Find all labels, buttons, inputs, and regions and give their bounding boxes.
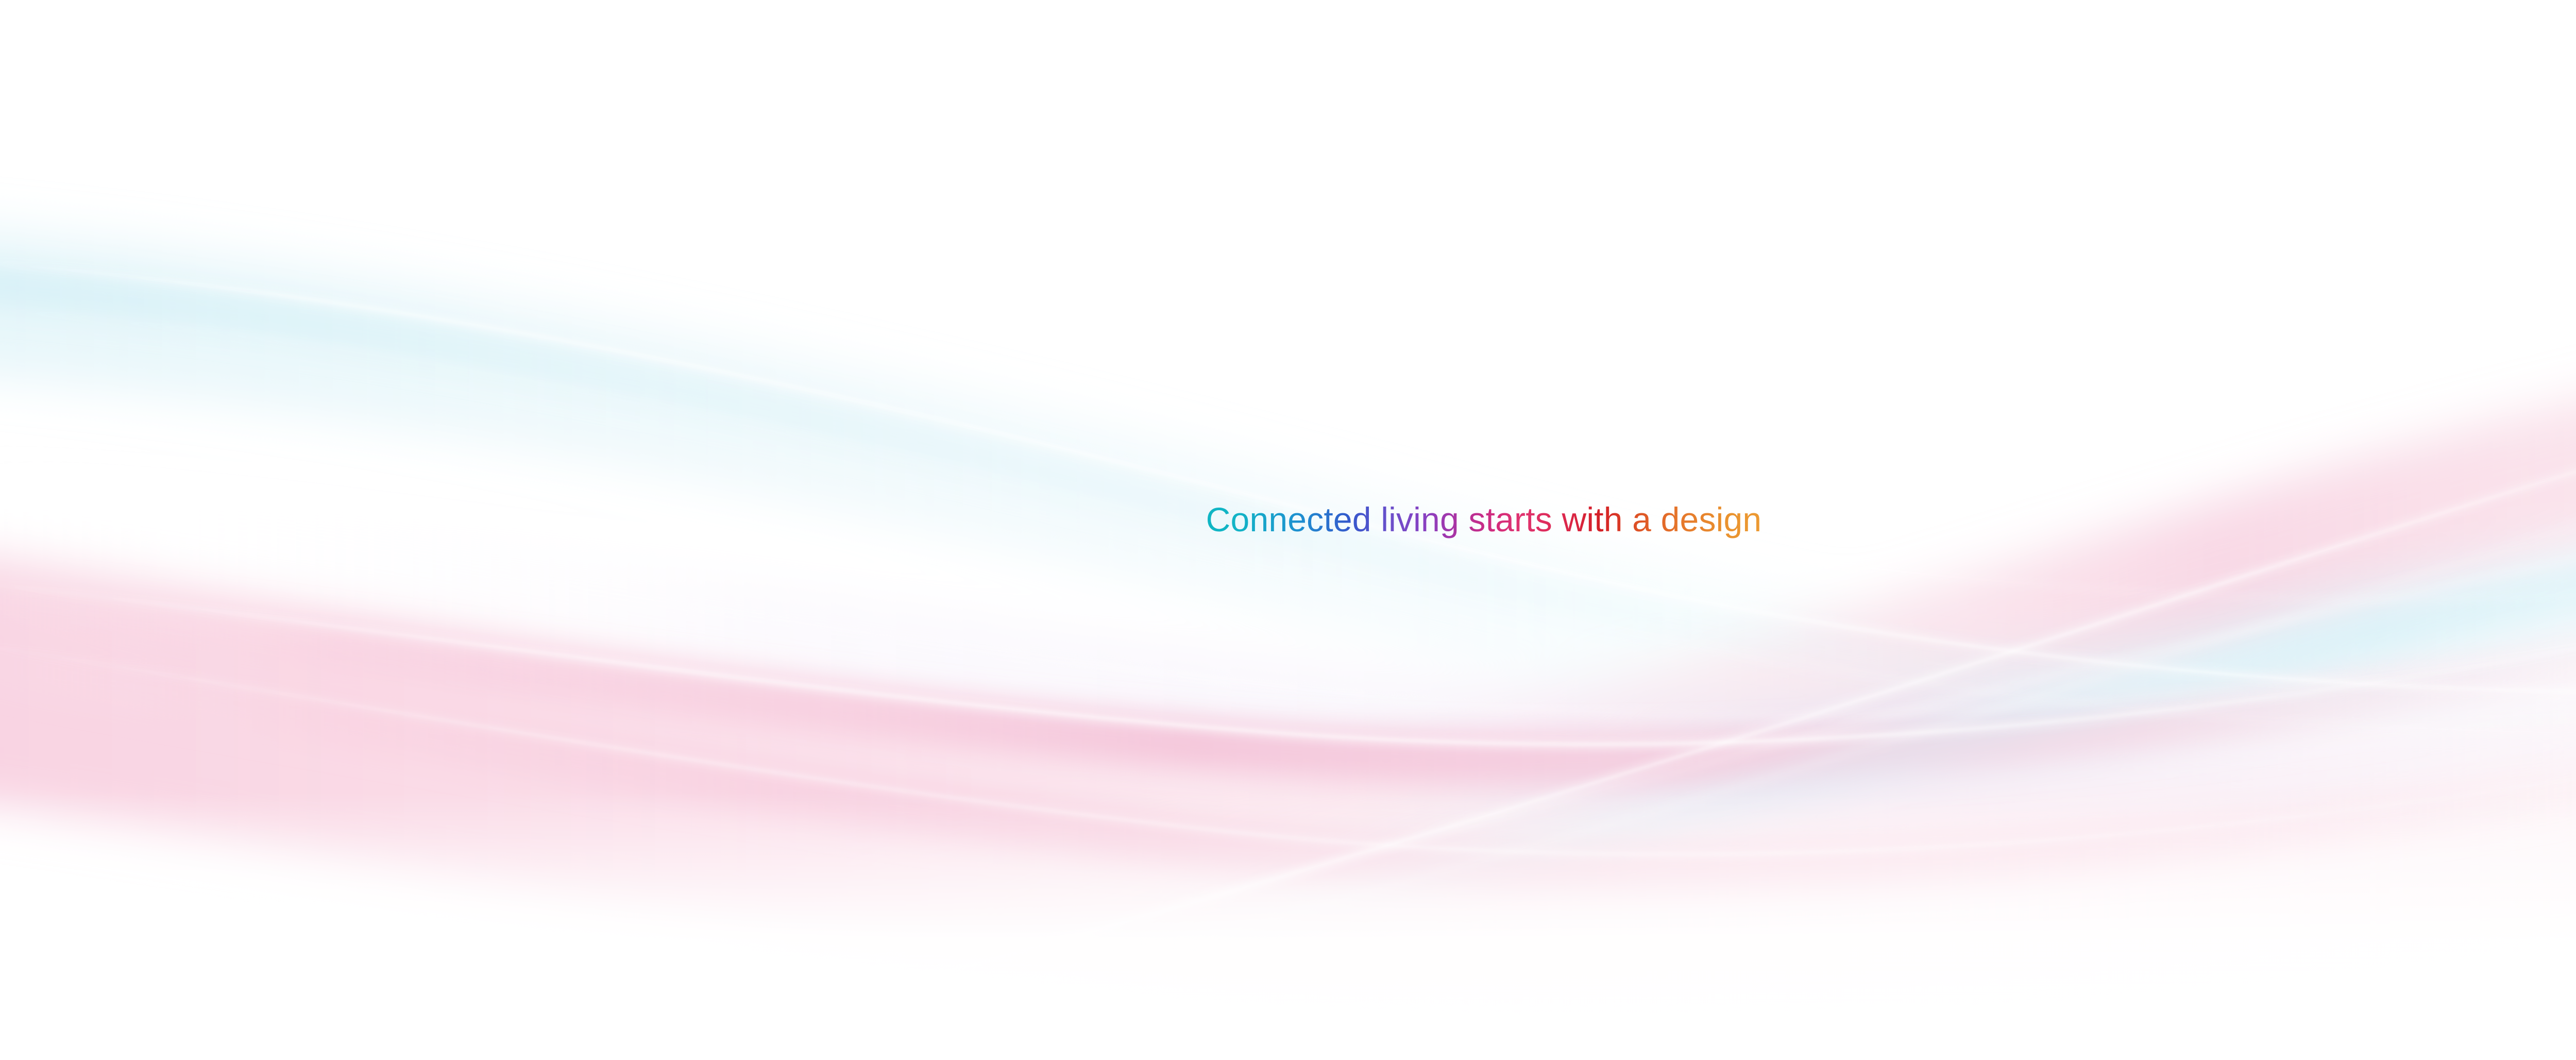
page-title: Connected living starts with a design bbox=[1206, 498, 1762, 541]
hero-content: Connected living starts with a design bbox=[0, 0, 2576, 1060]
hero-banner: Connected living starts with a design bbox=[0, 0, 2576, 1060]
